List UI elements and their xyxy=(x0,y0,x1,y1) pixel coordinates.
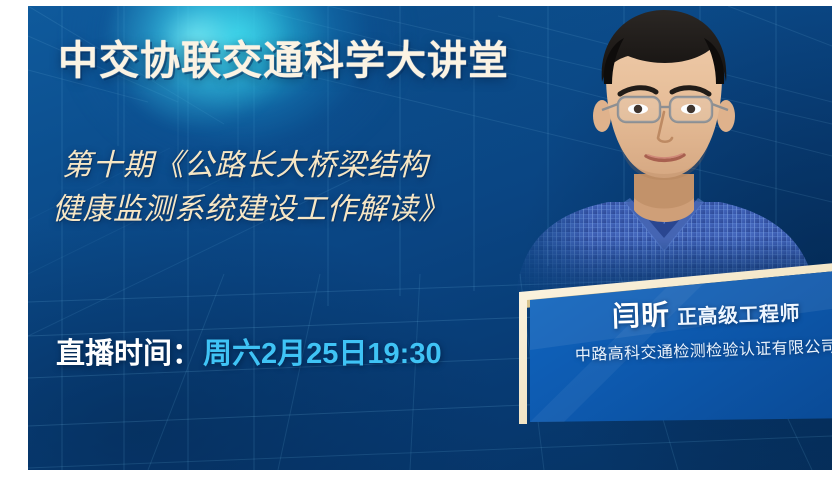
live-time: 直播时间：周六2月25日19:30 xyxy=(56,330,442,372)
episode-subtitle-line2: 健康监测系统建设工作解读》 xyxy=(52,188,582,232)
poster-root: 中交协联交通科学大讲堂 第十期《公路长大桥梁结构 健康监测系统建设工作解读》 直… xyxy=(0,0,840,480)
speaker-card xyxy=(468,246,832,446)
live-time-value: 周六2月25日19:30 xyxy=(203,338,442,370)
episode-subtitle-line1: 第十期《公路长大桥梁结构 xyxy=(62,144,582,188)
poster-canvas: 中交协联交通科学大讲堂 第十期《公路长大桥梁结构 健康监测系统建设工作解读》 直… xyxy=(28,6,832,470)
speaker-card-shape xyxy=(468,246,832,446)
episode-subtitle: 第十期《公路长大桥梁结构 健康监测系统建设工作解读》 xyxy=(62,144,582,231)
page-title: 中交协联交通科学大讲堂 xyxy=(58,28,509,86)
live-time-label: 直播时间： xyxy=(56,338,201,370)
